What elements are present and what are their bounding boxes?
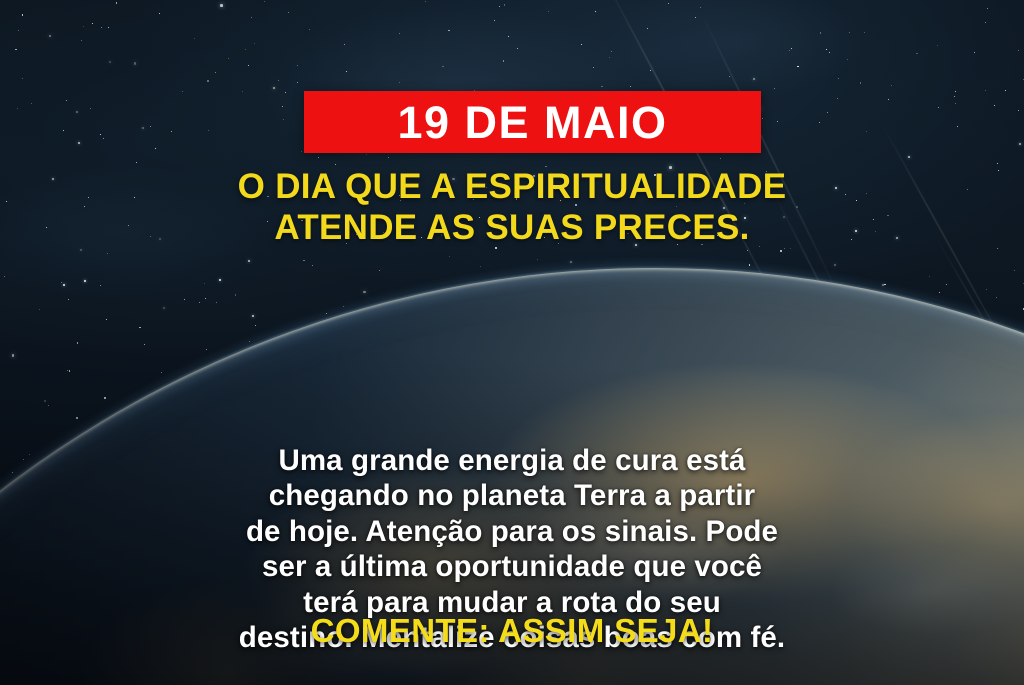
headline-line-1: O DIA QUE A ESPIRITUALIDADE [40,166,984,207]
body-line-2: chegando no planeta Terra a partir [58,478,966,513]
body-line-4: ser a última oportunidade que você [58,549,966,584]
body-line-3: de hoje. Atenção para os sinais. Pode [58,514,966,549]
date-banner-label: 19 DE MAIO [397,100,667,145]
call-to-action-label: COMENTE: ASSIM SEJA! [311,612,714,649]
headline-line-2: ATENDE AS SUAS PRECES. [40,207,984,248]
date-banner: 19 DE MAIO [304,91,761,153]
poster-canvas: 19 DE MAIO O DIA QUE A ESPIRITUALIDADE A… [0,0,1024,685]
call-to-action: COMENTE: ASSIM SEJA! [0,613,1024,649]
headline: O DIA QUE A ESPIRITUALIDADE ATENDE AS SU… [0,166,1024,249]
body-line-1: Uma grande energia de cura está [58,443,966,478]
poster-content: 19 DE MAIO O DIA QUE A ESPIRITUALIDADE A… [0,0,1024,685]
